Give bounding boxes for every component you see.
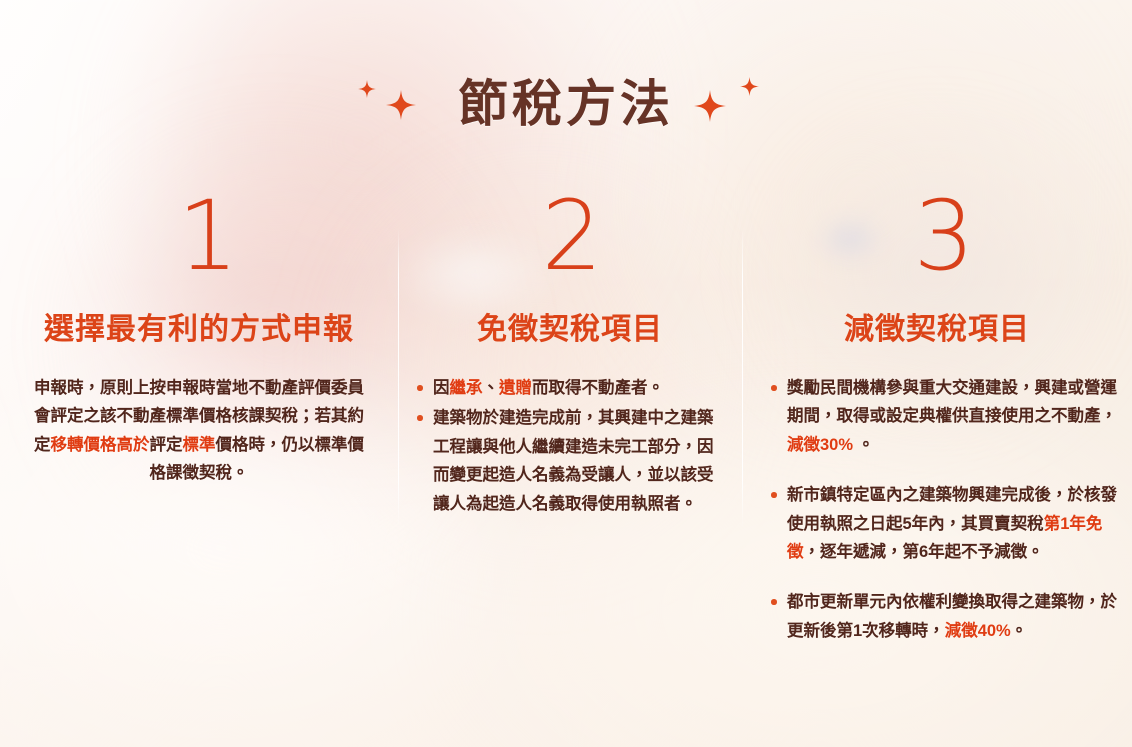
column-2: 2 免徵契稅項目 因繼承、遺贈而取得不動產者。建築物於建造完成前，其興建中之建築… xyxy=(398,188,742,708)
text-run: 、 xyxy=(483,379,500,397)
bullet-list-3: 獎勵民間機構參與重大交通建設，興建或營運期間，取得或設定典權供直接使用之不動產，… xyxy=(770,374,1120,645)
sparkle-group-right xyxy=(688,69,780,131)
title-block: 節稅方法 xyxy=(0,64,1132,136)
highlighted-text: 減徵30% xyxy=(787,436,853,454)
text-run: 因 xyxy=(433,379,450,397)
paragraph: 申報時，原則上按申報時當地不動產評價委員會評定之該不動產標準價格核課契稅；若其約… xyxy=(26,374,372,488)
bullet-text: 獎勵民間機構參與重大交通建設，興建或營運期間，取得或設定典權供直接使用之不動產，… xyxy=(787,374,1120,459)
text-run: 獎勵民間機構參與重大交通建設，興建或營運期間，取得或設定典權供直接使用之不動產， xyxy=(787,379,1117,425)
column-1: 1 選擇最有利的方式申報 申報時，原則上按申報時當地不動產評價委員會評定之該不動… xyxy=(0,188,398,708)
column-number-2: 2 xyxy=(398,188,742,292)
infographic-root: 節稅方法 1 選擇最有利的方式申報 申報時，原則上按申報時當地不動產評價委員會評… xyxy=(0,0,1132,747)
column-body-2: 因繼承、遺贈而取得不動產者。建築物於建造完成前，其興建中之建築工程讓與他人繼續建… xyxy=(398,374,742,518)
columns-container: 1 選擇最有利的方式申報 申報時，原則上按申報時當地不動產評價委員會評定之該不動… xyxy=(0,188,1132,708)
bullet-text: 因繼承、遺贈而取得不動產者。 xyxy=(433,374,728,402)
bullet-text: 都市更新單元內依權利變換取得之建築物，於更新後第1次移轉時，減徵40%。 xyxy=(787,588,1120,645)
sparkle-icon xyxy=(694,89,726,123)
bullet-text: 新市鎮特定區內之建築物興建完成後，於核發使用執照之日起5年內，其買賣契稅第1年免… xyxy=(787,481,1120,566)
column-number-1: 1 xyxy=(0,188,398,292)
highlighted-text: 移轉價格高於 xyxy=(51,436,150,454)
text-run: ，逐年遞減，第6年起不予減徵。 xyxy=(804,543,1044,561)
highlighted-text: 減徵40% xyxy=(945,622,1011,640)
text-run: 。 xyxy=(853,436,874,454)
sparkle-icon xyxy=(386,89,416,121)
column-heading-2: 免徵契稅項目 xyxy=(398,304,742,348)
sparkle-group-left xyxy=(352,69,444,131)
column-body-3: 獎勵民間機構參與重大交通建設，興建或營運期間，取得或設定典權供直接使用之不動產，… xyxy=(742,374,1132,645)
bullet-item: 因繼承、遺贈而取得不動產者。 xyxy=(416,374,728,402)
bullet-item: 獎勵民間機構參與重大交通建設，興建或營運期間，取得或設定典權供直接使用之不動產，… xyxy=(770,374,1120,459)
column-heading-1: 選擇最有利的方式申報 xyxy=(0,304,398,348)
highlighted-text: 標準 xyxy=(183,436,216,454)
sparkle-icon xyxy=(740,77,759,96)
column-heading-3: 減徵契稅項目 xyxy=(742,304,1132,348)
bullet-item: 新市鎮特定區內之建築物興建完成後，於核發使用執照之日起5年內，其買賣契稅第1年免… xyxy=(770,481,1120,566)
column-3: 3 減徵契稅項目 獎勵民間機構參與重大交通建設，興建或營運期間，取得或設定典權供… xyxy=(742,188,1132,708)
text-run: 建築物於建造完成前，其興建中之建築工程讓與他人繼續建造未完工部分，因而變更起造人… xyxy=(433,409,714,512)
sparkle-icon xyxy=(358,80,376,98)
bullet-item: 都市更新單元內依權利變換取得之建築物，於更新後第1次移轉時，減徵40%。 xyxy=(770,588,1120,645)
bullet-item: 建築物於建造完成前，其興建中之建築工程讓與他人繼續建造未完工部分，因而變更起造人… xyxy=(416,404,728,518)
column-number-3: 3 xyxy=(742,188,1132,292)
text-run: 。 xyxy=(1011,622,1028,640)
text-run: 而取得不動產者。 xyxy=(532,379,664,397)
bullet-list-2: 因繼承、遺贈而取得不動產者。建築物於建造完成前，其興建中之建築工程讓與他人繼續建… xyxy=(416,374,728,518)
text-run: 評定 xyxy=(150,436,183,454)
bullet-text: 建築物於建造完成前，其興建中之建築工程讓與他人繼續建造未完工部分，因而變更起造人… xyxy=(433,404,728,518)
page-title: 節稅方法 xyxy=(458,64,674,136)
highlighted-text: 繼承 xyxy=(450,379,483,397)
highlighted-text: 遺贈 xyxy=(499,379,532,397)
column-body-1: 申報時，原則上按申報時當地不動產評價委員會評定之該不動產標準價格核課契稅；若其約… xyxy=(0,374,398,488)
